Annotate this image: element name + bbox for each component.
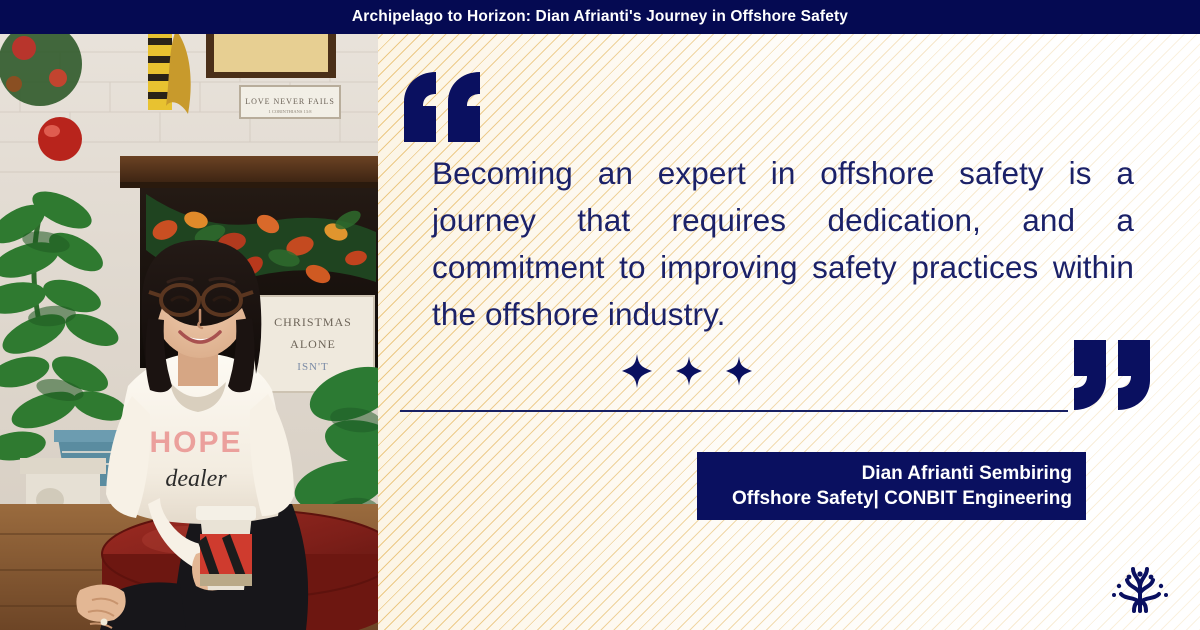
svg-text:LOVE NEVER FAILS: LOVE NEVER FAILS [245, 97, 335, 106]
attribution-box: Dian Afrianti Sembiring Offshore Safety|… [697, 452, 1086, 520]
svg-text:ISN'T: ISN'T [297, 361, 328, 373]
svg-text:dealer: dealer [165, 466, 227, 492]
sparkle-divider [622, 352, 752, 390]
svg-text:1 CORINTHIANS 13:8: 1 CORINTHIANS 13:8 [268, 109, 312, 114]
page-title: Archipelago to Horizon: Dian Afrianti's … [352, 8, 848, 26]
svg-text:CHRISTMAS: CHRISTMAS [274, 315, 352, 329]
horizontal-divider [400, 410, 1068, 412]
sparkle-icon [726, 356, 752, 386]
attribution-role: Offshore Safety| CONBIT Engineering [732, 486, 1072, 511]
quote-card: Archipelago to Horizon: Dian Afrianti's … [0, 0, 1200, 630]
header-bar: Archipelago to Horizon: Dian Afrianti's … [0, 0, 1200, 34]
svg-text:ALONE: ALONE [290, 337, 336, 351]
tree-logo [1108, 557, 1172, 613]
attribution-name: Dian Afrianti Sembiring [862, 461, 1072, 486]
sparkle-icon [676, 356, 702, 386]
portrait-photo: LOVE NEVER FAILS 1 CORINTHIANS 13:8 [0, 34, 378, 630]
svg-text:HOPE: HOPE [149, 426, 242, 459]
sparkle-icon [622, 354, 652, 388]
portrait-photo-image: LOVE NEVER FAILS 1 CORINTHIANS 13:8 [0, 34, 378, 630]
quote-text: Becoming an expert in offshore safety is… [432, 150, 1134, 338]
